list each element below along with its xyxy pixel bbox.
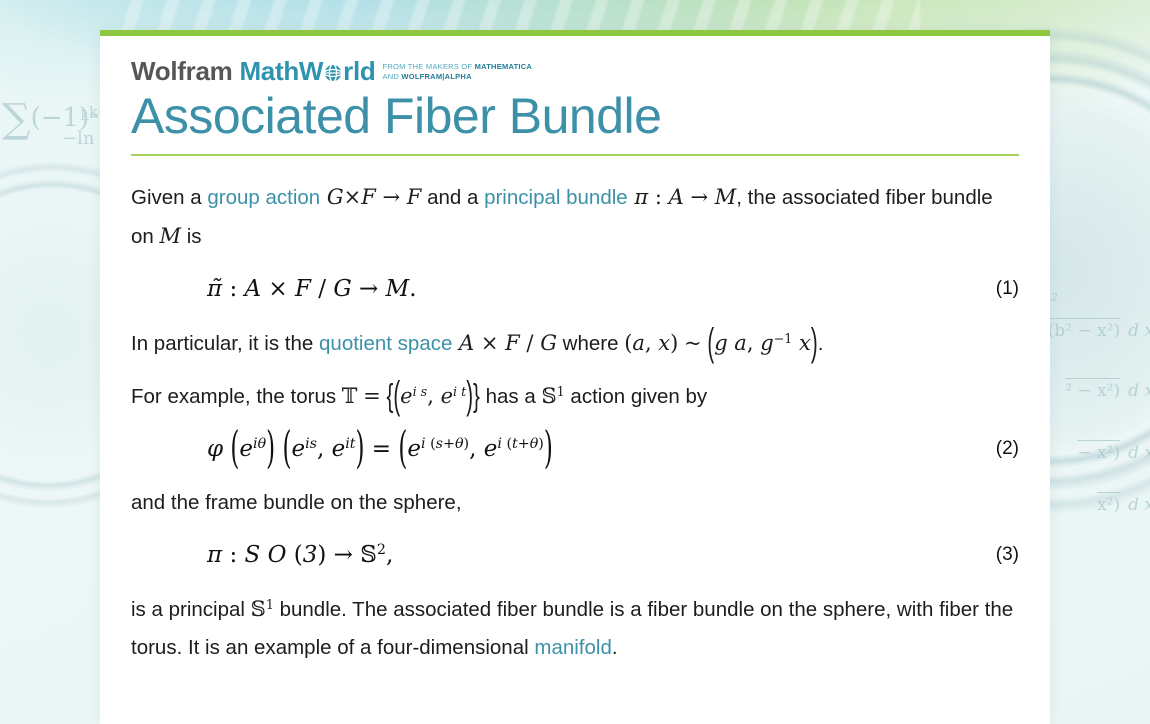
p1-math-4: π: [628, 185, 648, 209]
background-fraction-2: ² − x²)d x: [1065, 378, 1150, 401]
logo-tagline: From the makers of Mathematica and Wolfr…: [382, 58, 532, 82]
logo-world-rest: rld: [343, 58, 375, 84]
p2-math-3: G: [540, 331, 557, 355]
p1-times-1: ×: [344, 185, 362, 209]
p1-math-5: A: [669, 185, 684, 209]
tagline-prefix-2: and: [382, 72, 401, 81]
equation-1-number: (1): [984, 278, 1019, 300]
equation-3-row: π : S O (3) → 𝕊2, (3): [131, 542, 1019, 568]
tagline-prefix-1: From the makers of: [382, 62, 474, 71]
p2-math-8: x: [792, 331, 811, 355]
globe-icon: [323, 61, 343, 81]
link-manifold[interactable]: manifold: [534, 636, 612, 659]
p2-pair-close: ): [670, 331, 678, 355]
link-quotient-space[interactable]: quotient space: [319, 332, 452, 355]
p1-arrow-2: →: [684, 185, 715, 209]
title-divider: [131, 154, 1019, 156]
p2-math-2: F: [505, 331, 520, 355]
background-fraction-4: x²)d x: [1097, 492, 1150, 515]
fraction-denominator: (b² − x²): [1048, 318, 1120, 341]
p3-brace-open: {: [386, 366, 393, 427]
p2-math-4: a: [632, 331, 645, 355]
link-principal-bundle[interactable]: principal bundle: [484, 186, 628, 209]
p2-math-6: g a: [714, 331, 747, 355]
paragraph-frame-bundle: and the frame bundle on the sphere,: [131, 484, 1019, 522]
fraction-denominator: x²): [1097, 492, 1120, 515]
equation-1-row: π̃ : A × F / G → M. (1): [131, 276, 1019, 302]
p2-comma-2: ,: [747, 331, 760, 355]
p2-math-1: A: [452, 331, 474, 355]
logo-mathworld-text: MathWrld: [239, 58, 375, 84]
paragraph-conclusion: is a principal 𝕊1 bundle. The associated…: [131, 590, 1019, 667]
p3-math-1: e: [400, 384, 412, 408]
equation-3-body: π : S O (3) → 𝕊2,: [131, 542, 984, 568]
site-logo[interactable]: Wolfram MathWrld From the makers of Math…: [131, 58, 1019, 84]
p3-torus-symbol: 𝕋: [342, 384, 358, 408]
paragraph-quotient: In particular, it is the quotient space …: [131, 324, 1019, 363]
p1-math-3: F: [407, 185, 422, 209]
p1-text-1: Given a: [131, 186, 207, 209]
equation-1-body: π̃ : A × F / G → M.: [131, 276, 984, 302]
summation-sigma-symbol: ∑: [2, 96, 31, 142]
background-ln-term: −ln: [62, 128, 94, 149]
p3-paren-open: (: [393, 361, 400, 433]
p2-slash-1: /: [520, 331, 540, 355]
p1-math-1: G: [320, 185, 343, 209]
p3-brace-close: }: [473, 366, 480, 427]
fraction-denominator: − x²): [1077, 440, 1120, 463]
p1-math-6: M: [715, 185, 737, 209]
equation-2-row: φ (eiθ) (eis, eit) = (ei (s+θ), ei (t+θ)…: [131, 436, 1019, 462]
link-group-action[interactable]: group action: [207, 186, 320, 209]
p3-exp-3: 1: [557, 384, 565, 399]
p3-paren-close: ): [466, 361, 473, 433]
p2-sim: ~: [684, 331, 702, 355]
tagline-brand-wolframalpha: Wolfram|Alpha: [401, 72, 471, 81]
tagline-line-1: From the makers of Mathematica: [382, 62, 532, 71]
p1-math-2: F: [361, 185, 376, 209]
p3-comma-1: ,: [427, 384, 440, 408]
p1-colon-1: :: [648, 185, 668, 209]
equation-2-body: φ (eiθ) (eis, eit) = (ei (s+θ), ei (t+θ)…: [131, 436, 984, 462]
p1-arrow-1: →: [376, 185, 407, 209]
p5-circle-symbol: 𝕊: [251, 597, 266, 621]
equation-3-number: (3): [984, 544, 1019, 566]
p3-math-2: e: [441, 384, 453, 408]
fraction-denominator: ² − x²): [1065, 378, 1120, 401]
p2-paren-open: (: [707, 308, 714, 380]
paragraph-torus-example: For example, the torus 𝕋 = {(ei s, ei t)…: [131, 377, 1019, 416]
page-title: Associated Fiber Bundle: [131, 88, 1019, 144]
p2-times-1: ×: [474, 331, 505, 355]
differential-dx: d x: [1128, 495, 1150, 515]
p3-circle-symbol: 𝕊: [541, 384, 556, 408]
tagline-brand-mathematica: Mathematica: [475, 62, 532, 71]
p2-paren-close: ): [811, 308, 818, 380]
p5-exp-1: 1: [266, 597, 274, 612]
differential-dx: d x: [1128, 321, 1150, 341]
p3-equals: =: [363, 384, 381, 408]
p2-exp-1: −1: [774, 331, 793, 346]
p3-exp-2: i t: [453, 384, 466, 399]
paragraph-definition: Given a group action G×F → F and a princ…: [131, 178, 1019, 256]
p2-text-1: In particular, it is the: [131, 332, 319, 355]
p2-comma-1: ,: [645, 331, 658, 355]
p3-exp-1: i s: [413, 384, 428, 399]
article-card: Wolfram MathWrld From the makers of Math…: [100, 30, 1050, 724]
logo-world-w: W: [299, 58, 323, 84]
p2-math-7: g: [760, 331, 773, 355]
differential-dx: d x: [1128, 443, 1150, 463]
equation-2-number: (2): [984, 438, 1019, 460]
logo-math-text: Math: [239, 58, 298, 84]
tagline-line-2: and Wolfram|Alpha: [382, 72, 471, 81]
background-fraction-1: (b² − x²)d x: [1048, 318, 1150, 341]
logo-wolfram-text: Wolfram: [131, 58, 232, 84]
differential-dx: d x: [1128, 381, 1150, 401]
p1-math-7: M: [160, 224, 182, 248]
background-fraction-3: − x²)d x: [1077, 440, 1150, 463]
p2-math-5: x: [658, 331, 670, 355]
p5-period: .: [612, 636, 618, 659]
